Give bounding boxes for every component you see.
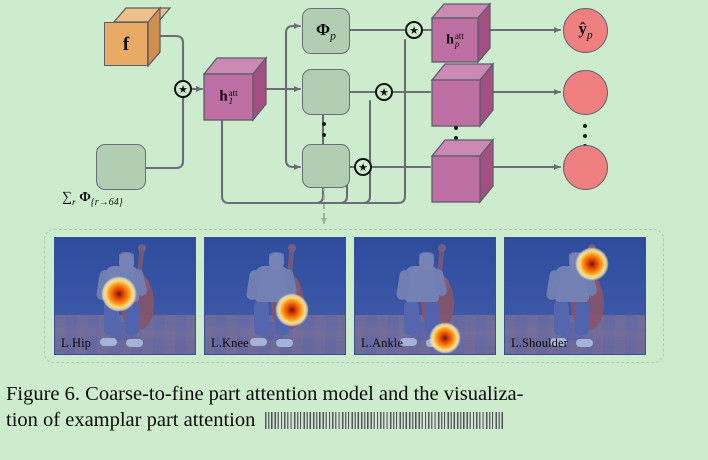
attention-heatmap-blob xyxy=(102,277,136,311)
sigma-subscript: r xyxy=(72,198,76,208)
feature-cube-label: f xyxy=(123,35,129,54)
yhat-p-label: ŷp xyxy=(578,19,592,41)
figure-root: f ∑r Φ{r→64} ★ h att 1 xyxy=(0,0,708,460)
sum-phi-node xyxy=(96,144,146,190)
architecture-diagram: f ∑r Φ{r→64} ★ h att 1 xyxy=(0,0,708,228)
attention-heatmap-blob xyxy=(276,294,308,326)
h1-subscript: 1 xyxy=(229,97,238,105)
h1-att-cube: h att 1 xyxy=(204,58,266,120)
hp-base: h xyxy=(446,32,454,47)
yhat-p-circle: ŷp xyxy=(563,8,608,53)
thumbnail-l-shoulder[interactable]: L.Shoulder xyxy=(504,237,646,355)
attention-visualization-panel: L.Hip L.Knee xyxy=(44,229,664,363)
star-icon: ★ xyxy=(358,162,368,173)
y-mid-circle xyxy=(563,70,608,115)
phi-p-base: Φ xyxy=(316,20,330,39)
thumbnail-l-knee[interactable]: L.Knee xyxy=(204,237,346,355)
sum-phi-caption: ∑r Φ{r→64} xyxy=(62,190,123,208)
thumbnail-row: L.Hip L.Knee xyxy=(54,237,646,355)
h-last-cube xyxy=(432,140,494,202)
thumbnail-l-hip[interactable]: L.Hip xyxy=(54,237,196,355)
h1-att-label: h att 1 xyxy=(219,89,237,105)
hp-att-label: h att p xyxy=(446,32,464,48)
conv-operator-4: ★ xyxy=(354,158,372,176)
star-icon: ★ xyxy=(379,87,389,98)
illegible-scan-artifact xyxy=(265,412,503,429)
thumbnail-label: L.Ankle xyxy=(361,336,403,351)
conv-operator-3: ★ xyxy=(375,83,393,101)
hp-att-cube: h att p xyxy=(432,4,494,62)
y-last-circle xyxy=(563,145,608,190)
cube-front-face: f xyxy=(104,22,148,66)
h1-base: h xyxy=(219,88,227,104)
thumbnail-label: L.Knee xyxy=(211,336,249,351)
hp-subscript: p xyxy=(455,40,464,48)
phi-glyph: Φ xyxy=(79,190,91,205)
phi-mid-node xyxy=(302,69,350,115)
conv-operator-2: ★ xyxy=(405,21,423,39)
h-mid-cube xyxy=(432,64,494,126)
caption-line-2: tion of examplar part attention xyxy=(6,409,255,431)
thumbnail-label: L.Shoulder xyxy=(511,336,568,351)
conv-operator-1: ★ xyxy=(174,80,192,98)
sigma-glyph: ∑ xyxy=(62,190,72,205)
star-icon: ★ xyxy=(178,84,188,95)
phi-p-label: Φp xyxy=(316,20,336,42)
caption-line-2-wrap: tion of examplar part attention xyxy=(6,407,706,433)
attention-heatmap-blob xyxy=(430,323,460,353)
caption-line-1: Figure 6. Coarse-to-fine part attention … xyxy=(6,381,706,407)
phi-last-node xyxy=(302,144,350,188)
yhat-subscript: p xyxy=(587,29,593,42)
feature-cube-f: f xyxy=(104,8,166,66)
phi-subscript: {r→64} xyxy=(91,197,123,208)
figure-caption: Figure 6. Coarse-to-fine part attention … xyxy=(6,381,706,433)
phi-p-node: Φp xyxy=(302,8,350,54)
phi-p-subscript: p xyxy=(330,29,336,42)
attention-heatmap-blob xyxy=(576,248,608,280)
yhat-base: ŷ xyxy=(578,19,587,38)
thumbnail-label: L.Hip xyxy=(61,336,91,351)
thumbnail-l-ankle[interactable]: L.Ankle xyxy=(354,237,496,355)
star-icon: ★ xyxy=(409,25,419,36)
